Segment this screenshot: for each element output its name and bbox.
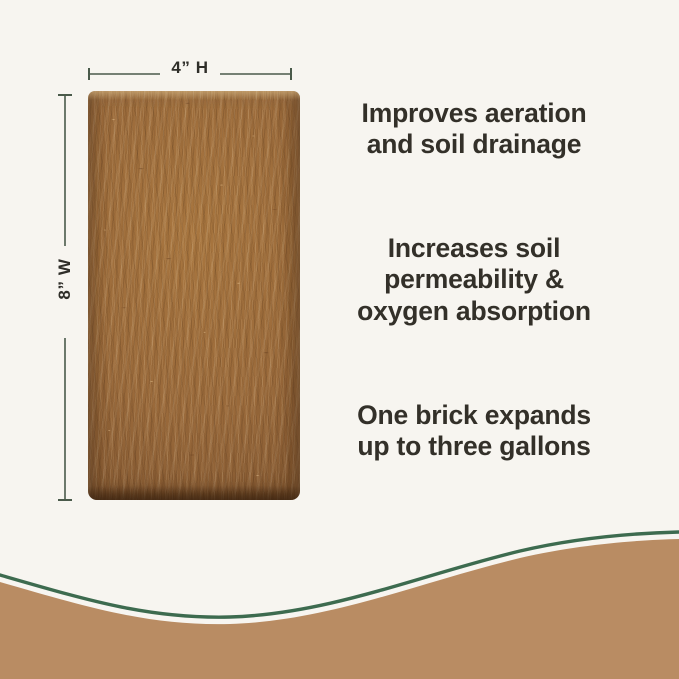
benefits-list: Improves aeration and soil drainage Incr… bbox=[324, 86, 624, 496]
soil-wave-decoration bbox=[0, 520, 679, 679]
benefit-item-expansion: One brick expands up to three gallons bbox=[324, 400, 624, 463]
benefit-line: Improves aeration bbox=[324, 98, 624, 129]
coco-coir-brick-image bbox=[88, 91, 300, 500]
width-dimension-label: 4” H bbox=[160, 56, 220, 80]
brick-bottom-edge bbox=[88, 486, 300, 500]
benefit-line: Increases soil bbox=[324, 233, 624, 264]
benefit-item-aeration: Improves aeration and soil drainage bbox=[324, 98, 624, 161]
height-dimension-label: 8” W bbox=[54, 250, 76, 308]
product-infographic: 4” H 8” W Improves aeration and soil dra… bbox=[0, 0, 679, 679]
benefit-line: up to three gallons bbox=[324, 431, 624, 462]
benefit-item-permeability: Increases soil permeability & oxygen abs… bbox=[324, 233, 624, 327]
benefit-line: and soil drainage bbox=[324, 129, 624, 160]
benefit-line: One brick expands bbox=[324, 400, 624, 431]
benefit-line: oxygen absorption bbox=[324, 296, 624, 327]
benefit-line: permeability & bbox=[324, 264, 624, 295]
brick-top-edge bbox=[88, 91, 300, 100]
soil-fill-shape bbox=[0, 539, 679, 679]
brick-texture bbox=[88, 91, 300, 500]
